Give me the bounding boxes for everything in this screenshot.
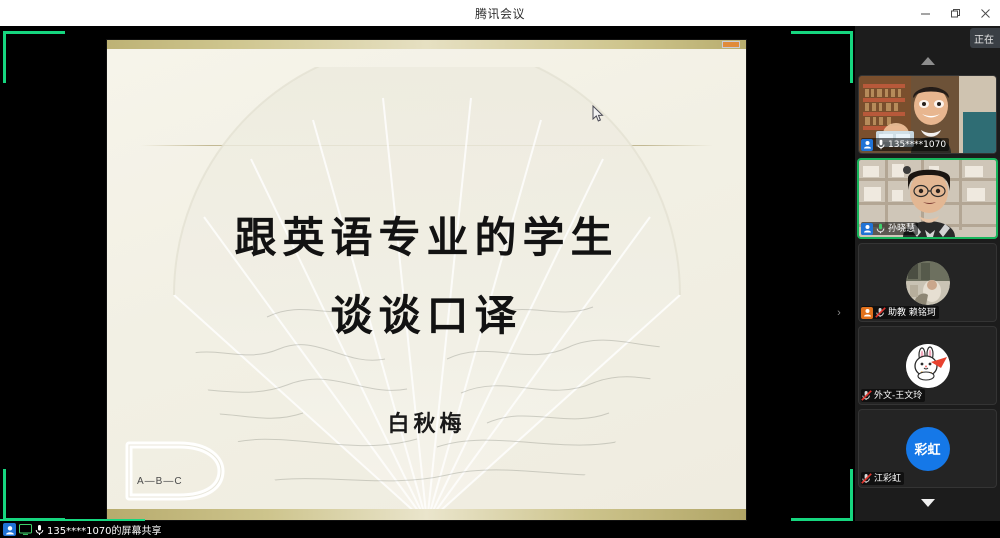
avatar — [906, 261, 950, 305]
avatar-initials: 彩虹 — [914, 439, 940, 458]
maximize-restore-button[interactable] — [940, 0, 970, 26]
microphone-on-icon — [875, 139, 886, 151]
host-role-icon — [861, 307, 873, 319]
participant-tile[interactable]: 助教 赖铭珂 — [858, 243, 997, 322]
microphone-on-icon — [35, 524, 44, 536]
window-title-bar: 腾讯会议 — [0, 0, 1000, 27]
slide-top-band — [107, 40, 746, 49]
chevron-up-icon — [921, 57, 935, 65]
participant-name: 135****1070 — [888, 139, 946, 151]
share-status-text: 135****1070的屏幕共享 — [47, 522, 162, 537]
slide-author: 白秋梅 — [107, 406, 746, 438]
participant-tile[interactable]: 外文-王文玲 — [858, 326, 997, 405]
slide-title-line1: 跟英语专业的学生 — [107, 199, 746, 277]
participant-tile[interactable]: 彩虹 江彩虹 — [858, 409, 997, 488]
participant-name: 孙晓慧 — [888, 223, 915, 235]
minimize-button[interactable] — [910, 0, 940, 26]
scroll-down-button[interactable] — [855, 492, 1000, 514]
collapse-panel-chevron-icon[interactable]: › — [833, 304, 845, 322]
participant-name: 助教 赖铭珂 — [888, 307, 936, 319]
d-logo-icon — [117, 439, 235, 503]
share-corner-bottom-left — [3, 469, 65, 521]
sharing-status-badge: 正在 — [970, 28, 1000, 48]
share-corner-top-right — [791, 31, 853, 83]
participant-name-bar: 135****1070 — [861, 138, 949, 151]
microphone-muted-icon — [861, 390, 872, 402]
slide-divider-line — [140, 145, 713, 146]
avatar: 彩虹 — [906, 427, 950, 471]
participants-panel: 正在 — [855, 26, 1000, 538]
screen-share-icon — [19, 524, 32, 535]
sharer-role-icon — [3, 523, 16, 536]
scroll-up-button[interactable] — [855, 50, 1000, 72]
participant-name-bar: 孙晓慧 — [861, 222, 918, 235]
meeting-stage: 跟英语专业的学生 谈谈口译 白秋梅 A—B—C › 正在 — [0, 26, 1000, 538]
slide-title-line2: 谈谈口译 — [107, 277, 746, 355]
avatar — [906, 344, 950, 388]
share-status-bar: 135****1070的屏幕共享 — [0, 521, 1000, 538]
window-controls — [910, 0, 1000, 26]
participant-tile[interactable]: 135****1070 — [858, 75, 997, 154]
mouse-cursor — [592, 105, 604, 123]
share-corner-bottom-right — [791, 469, 853, 521]
participant-name: 江彩虹 — [874, 473, 901, 485]
participant-name-bar: 江彩虹 — [861, 472, 904, 485]
microphone-muted-icon — [861, 473, 872, 485]
sharing-status-text: 正在 — [974, 31, 994, 46]
share-corner-top-left — [3, 31, 65, 83]
d-logo-label: A—B—C — [137, 476, 183, 487]
microphone-active-icon — [875, 223, 886, 235]
slide-top-marker — [722, 41, 740, 48]
app-title: 腾讯会议 — [475, 5, 525, 22]
participant-name: 外文-王文玲 — [874, 390, 922, 402]
slide-bottom-band — [107, 509, 746, 520]
slide-canvas: 跟英语专业的学生 谈谈口译 白秋梅 A—B—C — [107, 49, 746, 509]
participant-tile[interactable]: 孙晓慧 — [857, 158, 998, 239]
microphone-muted-icon — [875, 307, 886, 319]
shared-screen-slide[interactable]: 跟英语专业的学生 谈谈口译 白秋梅 A—B—C — [107, 40, 746, 520]
slide-title: 跟英语专业的学生 谈谈口译 — [107, 199, 746, 355]
participant-role-icon — [861, 223, 873, 235]
participant-name-bar: 外文-王文玲 — [861, 389, 925, 402]
participant-name-bar: 助教 赖铭珂 — [861, 306, 939, 319]
chevron-down-icon — [921, 499, 935, 507]
participant-role-icon — [861, 139, 873, 151]
close-button[interactable] — [970, 0, 1000, 26]
